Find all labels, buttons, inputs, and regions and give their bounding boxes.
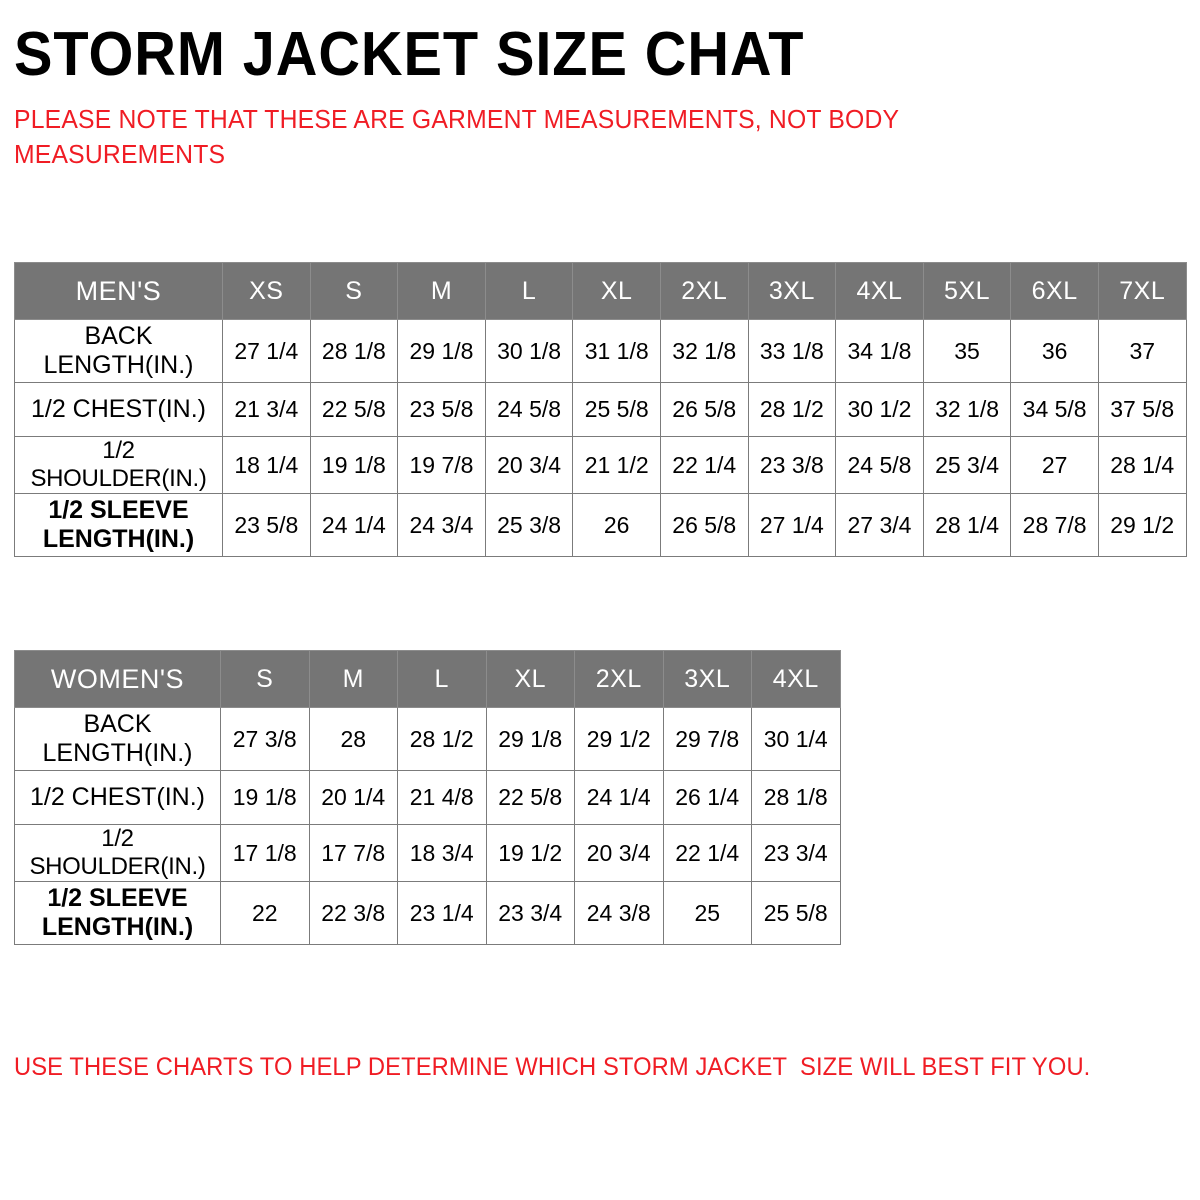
mens-table-body: BACK LENGTH(IN.)27 1/428 1/829 1/830 1/8… [15, 320, 1187, 557]
womens-size-header-xl: XL [486, 651, 575, 708]
garment-measurement-note: PLEASE NOTE THAT THESE ARE GARMENT MEASU… [14, 87, 945, 173]
measurement-cell: 37 [1098, 320, 1186, 383]
womens-size-table: WOMEN'SSMLXL2XL3XL4XL BACK LENGTH(IN.)27… [14, 650, 841, 945]
measurement-cell: 28 [309, 708, 398, 771]
mens-size-header-7xl: 7XL [1098, 263, 1186, 320]
measurement-cell: 25 [663, 881, 752, 944]
measurement-cell: 22 3/8 [309, 881, 398, 944]
measurement-cell: 21 3/4 [223, 383, 311, 437]
measurement-cell: 19 7/8 [398, 437, 486, 494]
mens-size-header-l: L [485, 263, 573, 320]
measurement-cell: 33 1/8 [748, 320, 836, 383]
measurement-cell: 34 5/8 [1011, 383, 1099, 437]
womens-size-table-container: WOMEN'SSMLXL2XL3XL4XL BACK LENGTH(IN.)27… [14, 650, 841, 945]
mens-table-head: MEN'SXSSMLXL2XL3XL4XL5XL6XL7XL [15, 263, 1187, 320]
measurement-cell: 30 1/2 [836, 383, 924, 437]
table-row: 1/2 SLEEVE LENGTH(IN.)2222 3/823 1/423 3… [15, 881, 841, 944]
measurement-cell: 24 5/8 [485, 383, 573, 437]
measurement-cell: 30 1/4 [752, 708, 841, 771]
measurement-cell: 28 7/8 [1011, 493, 1099, 556]
measurement-cell: 19 1/8 [221, 771, 310, 825]
measurement-cell: 24 3/8 [575, 881, 664, 944]
table-row: 1/2 CHEST(IN.)21 3/422 5/823 5/824 5/825… [15, 383, 1187, 437]
table-row: 1/2 SHOULDER(IN.)18 1/419 1/819 7/820 3/… [15, 437, 1187, 494]
womens-size-header-l: L [398, 651, 487, 708]
measurement-cell: 32 1/8 [923, 383, 1011, 437]
mens-row-label: 1/2 SHOULDER(IN.) [15, 437, 223, 494]
measurement-cell: 26 5/8 [660, 383, 748, 437]
measurement-cell: 18 1/4 [223, 437, 311, 494]
womens-size-header-m: M [309, 651, 398, 708]
mens-row-label: BACK LENGTH(IN.) [15, 320, 223, 383]
measurement-cell: 22 [221, 881, 310, 944]
measurement-cell: 24 1/4 [575, 771, 664, 825]
measurement-cell: 18 3/4 [398, 825, 487, 882]
measurement-cell: 22 5/8 [486, 771, 575, 825]
mens-size-header-m: M [398, 263, 486, 320]
measurement-cell: 36 [1011, 320, 1099, 383]
table-row: 1/2 CHEST(IN.)19 1/820 1/421 4/822 5/824… [15, 771, 841, 825]
measurement-cell: 25 5/8 [752, 881, 841, 944]
measurement-cell: 27 3/4 [836, 493, 924, 556]
measurement-cell: 19 1/2 [486, 825, 575, 882]
mens-size-header-4xl: 4XL [836, 263, 924, 320]
mens-row-label: 1/2 CHEST(IN.) [15, 383, 223, 437]
size-chart-page: STORM JACKET SIZE CHAT PLEASE NOTE THAT … [0, 0, 1200, 1200]
mens-size-table-container: MEN'SXSSMLXL2XL3XL4XL5XL6XL7XL BACK LENG… [14, 262, 1187, 557]
measurement-cell: 25 5/8 [573, 383, 661, 437]
measurement-cell: 34 1/8 [836, 320, 924, 383]
measurement-cell: 20 3/4 [575, 825, 664, 882]
measurement-cell: 28 1/4 [923, 493, 1011, 556]
measurement-cell: 27 1/4 [748, 493, 836, 556]
measurement-cell: 29 7/8 [663, 708, 752, 771]
measurement-cell: 23 3/4 [486, 881, 575, 944]
measurement-cell: 29 1/2 [575, 708, 664, 771]
measurement-cell: 22 1/4 [663, 825, 752, 882]
mens-size-header-xs: XS [223, 263, 311, 320]
measurement-cell: 25 3/4 [923, 437, 1011, 494]
mens-size-table: MEN'SXSSMLXL2XL3XL4XL5XL6XL7XL BACK LENG… [14, 262, 1187, 557]
table-row: 1/2 SLEEVE LENGTH(IN.)23 5/824 1/424 3/4… [15, 493, 1187, 556]
mens-size-header-2xl: 2XL [660, 263, 748, 320]
measurement-cell: 21 1/2 [573, 437, 661, 494]
measurement-cell: 17 1/8 [221, 825, 310, 882]
mens-size-header-s: S [310, 263, 398, 320]
measurement-cell: 28 1/8 [752, 771, 841, 825]
measurement-cell: 28 1/4 [1098, 437, 1186, 494]
measurement-cell: 26 5/8 [660, 493, 748, 556]
womens-table-head: WOMEN'SSMLXL2XL3XL4XL [15, 651, 841, 708]
measurement-cell: 21 4/8 [398, 771, 487, 825]
measurement-cell: 29 1/8 [398, 320, 486, 383]
measurement-cell: 26 1/4 [663, 771, 752, 825]
measurement-cell: 23 3/8 [748, 437, 836, 494]
measurement-cell: 30 1/8 [485, 320, 573, 383]
womens-size-header-s: S [221, 651, 310, 708]
measurement-cell: 28 1/2 [398, 708, 487, 771]
table-row: BACK LENGTH(IN.)27 1/428 1/829 1/830 1/8… [15, 320, 1187, 383]
mens-size-header-5xl: 5XL [923, 263, 1011, 320]
measurement-cell: 17 7/8 [309, 825, 398, 882]
measurement-cell: 28 1/8 [310, 320, 398, 383]
measurement-cell: 20 1/4 [309, 771, 398, 825]
womens-size-header-2xl: 2XL [575, 651, 664, 708]
mens-corner-header: MEN'S [15, 263, 223, 320]
measurement-cell: 23 1/4 [398, 881, 487, 944]
mens-size-header-6xl: 6XL [1011, 263, 1099, 320]
womens-size-header-3xl: 3XL [663, 651, 752, 708]
measurement-cell: 19 1/8 [310, 437, 398, 494]
measurement-cell: 24 3/4 [398, 493, 486, 556]
measurement-cell: 31 1/8 [573, 320, 661, 383]
womens-row-label: 1/2 CHEST(IN.) [15, 771, 221, 825]
womens-corner-header: WOMEN'S [15, 651, 221, 708]
measurement-cell: 23 3/4 [752, 825, 841, 882]
measurement-cell: 32 1/8 [660, 320, 748, 383]
measurement-cell: 20 3/4 [485, 437, 573, 494]
measurement-cell: 22 5/8 [310, 383, 398, 437]
table-row: 1/2 SHOULDER(IN.)17 1/817 7/818 3/419 1/… [15, 825, 841, 882]
table-row: BACK LENGTH(IN.)27 3/82828 1/229 1/829 1… [15, 708, 841, 771]
measurement-cell: 24 1/4 [310, 493, 398, 556]
womens-size-header-4xl: 4XL [752, 651, 841, 708]
mens-size-header-3xl: 3XL [748, 263, 836, 320]
measurement-cell: 23 5/8 [223, 493, 311, 556]
measurement-cell: 37 5/8 [1098, 383, 1186, 437]
measurement-cell: 35 [923, 320, 1011, 383]
measurement-cell: 25 3/8 [485, 493, 573, 556]
measurement-cell: 23 5/8 [398, 383, 486, 437]
mens-header-row: MEN'SXSSMLXL2XL3XL4XL5XL6XL7XL [15, 263, 1187, 320]
measurement-cell: 22 1/4 [660, 437, 748, 494]
measurement-cell: 29 1/8 [486, 708, 575, 771]
mens-row-label: 1/2 SLEEVE LENGTH(IN.) [15, 493, 223, 556]
measurement-cell: 24 5/8 [836, 437, 924, 494]
womens-row-label: 1/2 SLEEVE LENGTH(IN.) [15, 881, 221, 944]
measurement-cell: 26 [573, 493, 661, 556]
womens-header-row: WOMEN'SSMLXL2XL3XL4XL [15, 651, 841, 708]
measurement-cell: 29 1/2 [1098, 493, 1186, 556]
measurement-cell: 28 1/2 [748, 383, 836, 437]
womens-row-label: BACK LENGTH(IN.) [15, 708, 221, 771]
measurement-cell: 27 [1011, 437, 1099, 494]
measurement-cell: 27 1/4 [223, 320, 311, 383]
measurement-cell: 27 3/8 [221, 708, 310, 771]
use-charts-note: USE THESE CHARTS TO HELP DETERMINE WHICH… [14, 1053, 1090, 1082]
page-title: STORM JACKET SIZE CHAT [14, 0, 1104, 87]
womens-row-label: 1/2 SHOULDER(IN.) [15, 825, 221, 882]
mens-size-header-xl: XL [573, 263, 661, 320]
womens-table-body: BACK LENGTH(IN.)27 3/82828 1/229 1/829 1… [15, 708, 841, 945]
